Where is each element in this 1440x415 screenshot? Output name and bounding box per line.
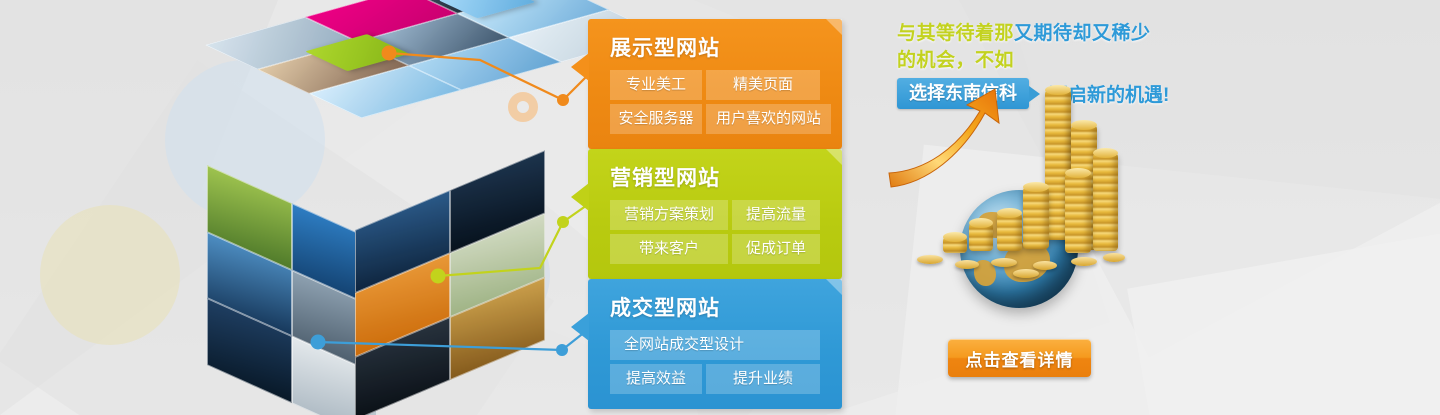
orange-connector-dot bbox=[557, 94, 569, 106]
loose-coin bbox=[955, 260, 979, 269]
headline-line-1-part-2: 又期待却又稀少 bbox=[1014, 23, 1151, 44]
card-title: 成交型网站 bbox=[588, 279, 842, 330]
card-chip[interactable]: 用户喜欢的网站 bbox=[706, 104, 831, 134]
card-chip-row: 全网站成交型设计 bbox=[610, 330, 820, 360]
loose-coin bbox=[1033, 261, 1057, 270]
card-chip[interactable]: 提升业绩 bbox=[706, 364, 820, 394]
coin-stack bbox=[1023, 187, 1049, 249]
view-details-button[interactable]: 点击查看详情 bbox=[948, 339, 1091, 377]
blue-connector-dot bbox=[556, 344, 568, 356]
gold-coins-illustration bbox=[895, 95, 1140, 340]
coin-stack bbox=[1093, 153, 1118, 251]
coin-stack bbox=[997, 213, 1022, 251]
loose-coin bbox=[917, 255, 943, 264]
banner-stage: 展示型网站 专业美工 精美页面 安全服务器 用户喜欢的网站 营销型网站 营销方案… bbox=[0, 0, 1440, 415]
card-chip-rows: 营销方案策划 提高流量 带来客户 促成订单 bbox=[610, 200, 820, 264]
bg-facet bbox=[1127, 216, 1440, 415]
loose-coin bbox=[991, 258, 1017, 267]
coin-stack bbox=[1065, 173, 1091, 253]
bg-blob bbox=[40, 205, 180, 345]
card-chip[interactable]: 全网站成交型设计 bbox=[610, 330, 820, 360]
card-tail bbox=[571, 53, 589, 81]
website-cube bbox=[185, 45, 545, 375]
cube-face-left bbox=[207, 165, 377, 415]
card-chip[interactable]: 营销方案策划 bbox=[610, 200, 728, 230]
coin-stack bbox=[969, 223, 993, 251]
card-chip-row: 带来客户 促成订单 bbox=[610, 234, 820, 264]
loose-coin bbox=[1103, 253, 1125, 262]
card-tail bbox=[571, 313, 589, 341]
card-chip[interactable]: 精美页面 bbox=[706, 70, 820, 100]
headline-line-1: 与其等待着那又期待却又稀少 bbox=[897, 20, 1187, 47]
card-chip[interactable]: 促成订单 bbox=[732, 234, 820, 264]
card-chip-row: 安全服务器 用户喜欢的网站 bbox=[610, 104, 820, 134]
card-showcase[interactable]: 展示型网站 专业美工 精美页面 安全服务器 用户喜欢的网站 bbox=[588, 19, 842, 149]
card-chip-row: 提高效益 提升业绩 bbox=[610, 364, 820, 394]
loose-coin bbox=[1071, 257, 1097, 266]
card-chip-rows: 专业美工 精美页面 安全服务器 用户喜欢的网站 bbox=[610, 70, 820, 134]
headline-line-1-part-1: 与其等待着那 bbox=[897, 23, 1014, 44]
card-title: 展示型网站 bbox=[588, 19, 842, 70]
card-chip-row: 专业美工 精美页面 bbox=[610, 70, 820, 100]
cube-face-right bbox=[355, 150, 545, 415]
card-chip[interactable]: 安全服务器 bbox=[610, 104, 702, 134]
card-chip-row: 营销方案策划 提高流量 bbox=[610, 200, 820, 230]
card-title: 营销型网站 bbox=[588, 149, 842, 200]
card-chip[interactable]: 提高流量 bbox=[732, 200, 820, 230]
card-chip[interactable]: 带来客户 bbox=[610, 234, 728, 264]
loose-coin bbox=[1013, 269, 1039, 278]
coin-stack bbox=[943, 237, 967, 253]
card-chip-rows: 全网站成交型设计 提高效益 提升业绩 bbox=[610, 330, 820, 394]
card-chip[interactable]: 提高效益 bbox=[610, 364, 702, 394]
card-chip[interactable]: 专业美工 bbox=[610, 70, 702, 100]
card-conversion[interactable]: 成交型网站 全网站成交型设计 提高效益 提升业绩 bbox=[588, 279, 842, 409]
headline-line-2: 的机会，不如 bbox=[897, 47, 1187, 74]
green-connector-dot bbox=[557, 216, 569, 228]
card-marketing[interactable]: 营销型网站 营销方案策划 提高流量 带来客户 促成订单 bbox=[588, 149, 842, 279]
card-tail bbox=[571, 183, 589, 211]
